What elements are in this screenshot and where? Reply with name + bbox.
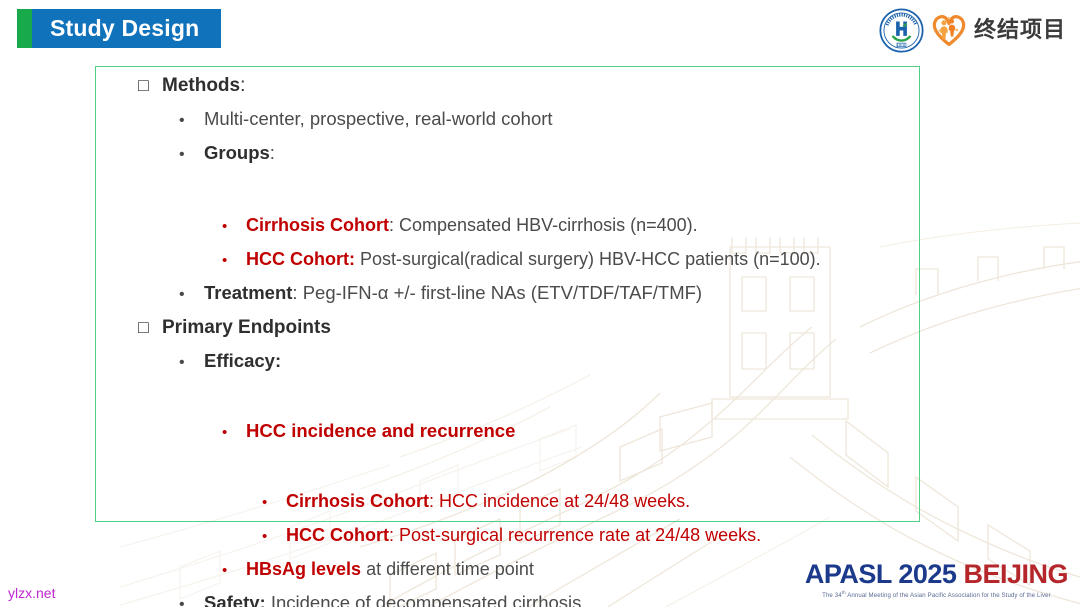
round-bullet-icon: • bbox=[262, 495, 286, 510]
round-bullet-icon: • bbox=[179, 113, 204, 129]
list-item-text: Treatment: Peg-IFN-α +/- first-line NAs … bbox=[204, 284, 702, 303]
page-title: Study Design bbox=[50, 15, 199, 42]
slide-canvas: Study Design 终结项目 bbox=[0, 0, 1080, 607]
run-text: : Peg-IFN-α +/- first-line NAs (ETV/TDF/… bbox=[292, 282, 702, 303]
tagline-pre: The 34 bbox=[822, 592, 842, 599]
list-item-text: Cirrhosis Cohort: HCC incidence at 24/48… bbox=[286, 492, 690, 510]
round-bullet-icon: • bbox=[179, 147, 204, 163]
round-bullet-icon: • bbox=[262, 529, 286, 544]
list-item-text: Methods: bbox=[162, 76, 245, 95]
square-bullet-icon: □ bbox=[138, 318, 162, 336]
apasl-conference-logo: APASL 2025 BEIJING The 34th Annual Meeti… bbox=[805, 561, 1068, 599]
apasl-logo-title: APASL 2025 BEIJING bbox=[805, 561, 1068, 588]
run-text: : Post-surgical recurrence rate at 24/48… bbox=[389, 525, 761, 545]
list-item: • Multi-center, prospective, real-world … bbox=[95, 110, 1055, 144]
run-text: Incidence of decompensated cirrhosis bbox=[266, 592, 582, 607]
run-text: : bbox=[240, 75, 245, 96]
run-text: Treatment bbox=[204, 282, 292, 303]
apasl-tagline: The 34th Annual Meeting of the Asian Pac… bbox=[805, 591, 1068, 599]
list-item-text: Safety: Incidence of decompensated cirrh… bbox=[204, 594, 581, 607]
list-item: □ Methods: bbox=[95, 76, 1055, 110]
list-item: □ Primary Endpoints bbox=[95, 318, 1055, 352]
spacer bbox=[95, 456, 1055, 492]
round-bullet-icon: • bbox=[179, 597, 204, 607]
study-design-outline: □ Methods: • Multi-center, prospective, … bbox=[95, 66, 1055, 607]
run-text: Multi-center, prospective, real-world co… bbox=[204, 108, 553, 129]
list-item-text: Cirrhosis Cohort: Compensated HBV-cirrho… bbox=[246, 216, 698, 234]
list-item: • HCC Cohort: Post-surgical recurrence r… bbox=[95, 526, 1055, 560]
round-bullet-icon: • bbox=[222, 219, 246, 234]
run-text: Primary Endpoints bbox=[162, 317, 331, 338]
list-item-text: Primary Endpoints bbox=[162, 318, 331, 337]
list-item-text: HCC incidence and recurrence bbox=[246, 422, 515, 441]
list-item-text: HCC Cohort: Post-surgical(radical surger… bbox=[246, 250, 821, 268]
tagline-post: Annual Meeting of the Asian Pacific Asso… bbox=[846, 592, 1051, 599]
run-text: : bbox=[270, 142, 275, 163]
list-item: • Groups: bbox=[95, 144, 1055, 178]
list-item-text: Multi-center, prospective, real-world co… bbox=[204, 110, 553, 129]
round-bullet-icon: • bbox=[222, 253, 246, 268]
round-bullet-icon: • bbox=[222, 425, 246, 440]
heart-people-icon bbox=[931, 12, 967, 48]
list-item: • Cirrhosis Cohort: HCC incidence at 24/… bbox=[95, 492, 1055, 526]
run-text: HCC incidence and recurrence bbox=[246, 420, 515, 441]
run-text: Post-surgical(radical surgery) HBV-HCC p… bbox=[355, 249, 821, 269]
run-text: at different time point bbox=[361, 559, 534, 579]
title-accent-bar bbox=[17, 9, 32, 48]
apasl-name: APASL 2025 bbox=[805, 559, 957, 589]
run-text: Cirrhosis Cohort bbox=[286, 491, 429, 511]
list-item-text: HBsAg levels at different time point bbox=[246, 560, 534, 578]
list-item: • Cirrhosis Cohort: Compensated HBV-cirr… bbox=[95, 216, 1055, 250]
run-text: Efficacy: bbox=[204, 350, 281, 371]
round-bullet-icon: • bbox=[179, 287, 204, 303]
run-text: Safety: bbox=[204, 592, 266, 607]
list-item: • Efficacy: bbox=[95, 352, 1055, 386]
list-item-text: HCC Cohort: Post-surgical recurrence rat… bbox=[286, 526, 761, 544]
list-item: • HCC incidence and recurrence bbox=[95, 422, 1055, 456]
run-text: : Compensated HBV-cirrhosis (n=400). bbox=[389, 215, 698, 235]
list-item-text: Efficacy: bbox=[204, 352, 281, 371]
spacer bbox=[95, 178, 1055, 216]
run-text: HBsAg levels bbox=[246, 559, 361, 579]
site-watermark: ylzx.net bbox=[8, 585, 55, 601]
list-item-text: Groups: bbox=[204, 144, 275, 163]
brand-name-cn: 终结项目 bbox=[974, 19, 1066, 41]
run-text: HCC Cohort bbox=[286, 525, 389, 545]
square-bullet-icon: □ bbox=[138, 76, 162, 94]
spacer bbox=[95, 386, 1055, 422]
university-seal-icon bbox=[879, 8, 924, 53]
run-text: Groups bbox=[204, 142, 270, 163]
run-text: Cirrhosis Cohort bbox=[246, 215, 389, 235]
apasl-city: BEIJING bbox=[963, 559, 1068, 589]
run-text: Methods bbox=[162, 75, 240, 96]
round-bullet-icon: • bbox=[222, 563, 246, 578]
list-item: • Treatment: Peg-IFN-α +/- first-line NA… bbox=[95, 284, 1055, 318]
run-text: HCC Cohort: bbox=[246, 249, 355, 269]
list-item: • HCC Cohort: Post-surgical(radical surg… bbox=[95, 250, 1055, 284]
slide-title-banner: Study Design bbox=[17, 9, 221, 48]
title-box: Study Design bbox=[32, 9, 221, 48]
round-bullet-icon: • bbox=[179, 355, 204, 371]
header-logo-group: 终结项目 bbox=[879, 6, 1066, 54]
run-text: : HCC incidence at 24/48 weeks. bbox=[429, 491, 690, 511]
